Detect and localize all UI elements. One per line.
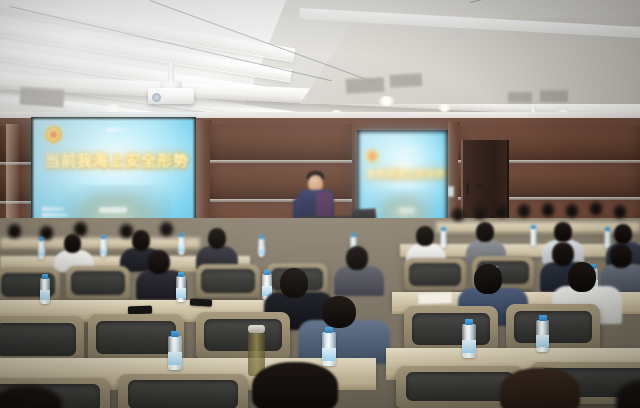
- water-bottle[interactable]: [168, 336, 182, 370]
- attendee-body: [334, 266, 384, 296]
- water-bottle[interactable]: [176, 276, 186, 302]
- water-bottle[interactable]: [100, 238, 107, 257]
- attendee-head: [518, 204, 530, 217]
- bottle-cap: [179, 233, 184, 237]
- hvac-vent: [508, 92, 532, 103]
- water-bottle[interactable]: [322, 332, 336, 366]
- chair[interactable]: [118, 374, 248, 408]
- water-bottle[interactable]: [258, 238, 265, 257]
- attendee-head: [474, 264, 502, 294]
- attendee-head: [614, 224, 632, 244]
- lecture-hall-photo: 当前我海上安全形势 当前我海上安全形势: [0, 0, 640, 408]
- bottle-cap: [42, 274, 48, 279]
- attendee-head: [568, 262, 596, 292]
- attendee-head: [452, 208, 464, 221]
- chair[interactable]: [404, 306, 498, 353]
- attendee-head: [610, 244, 632, 268]
- bottle-label: [258, 247, 265, 254]
- chair[interactable]: [196, 264, 260, 298]
- flask-cap: [248, 325, 265, 333]
- attendee-head: [132, 230, 150, 251]
- door-handle[interactable]: [466, 183, 469, 195]
- water-bottle[interactable]: [40, 278, 50, 304]
- hvac-vent: [19, 86, 64, 107]
- attendee-head: [322, 296, 356, 328]
- attendee-head: [552, 242, 574, 266]
- attendee-head: [474, 206, 486, 219]
- attendee-head: [280, 268, 308, 298]
- water-bottle[interactable]: [178, 236, 185, 255]
- smartphone[interactable]: [190, 298, 212, 306]
- bottle-cap: [178, 272, 184, 277]
- bottle-cap: [539, 315, 547, 321]
- water-bottle[interactable]: [462, 324, 476, 358]
- bottle-label: [176, 288, 186, 298]
- attendee-head: [590, 202, 602, 215]
- attendee-head: [148, 250, 170, 274]
- wall-panel: [210, 124, 352, 160]
- water-bottle[interactable]: [530, 228, 537, 246]
- bottle-cap: [101, 235, 106, 239]
- hvac-vent: [346, 77, 385, 94]
- hvac-vent: [540, 90, 568, 102]
- ceiling-downlight: [378, 96, 395, 106]
- water-bottle[interactable]: [38, 240, 45, 259]
- attendee-head: [476, 222, 494, 242]
- screen-glare: [33, 119, 194, 225]
- attendee-head: [416, 226, 434, 246]
- bottle-cap: [605, 227, 610, 231]
- attendee-head: [120, 224, 133, 238]
- paper-handout[interactable]: [418, 292, 452, 304]
- attendee-head: [252, 362, 338, 408]
- bottle-cap: [171, 331, 179, 337]
- bottle-label: [178, 245, 185, 252]
- bottle-label: [322, 348, 336, 361]
- projector-lens: [152, 93, 161, 102]
- attendee-head: [346, 246, 368, 270]
- main-projection-screen: 当前我海上安全形势: [33, 119, 194, 225]
- attendee-head: [64, 234, 81, 253]
- chair[interactable]: [0, 316, 84, 364]
- attendee-head: [554, 222, 572, 242]
- bottle-cap: [531, 225, 536, 229]
- chair[interactable]: [0, 268, 60, 302]
- bottle-label: [536, 335, 549, 347]
- bottle-label: [40, 290, 50, 300]
- attendee-head: [208, 228, 226, 249]
- bottle-label: [462, 340, 476, 353]
- bottle-cap: [39, 237, 44, 241]
- bottle-cap: [441, 227, 446, 231]
- attendee-head: [496, 205, 507, 217]
- attendee-head: [566, 204, 578, 217]
- hvac-vent: [390, 73, 423, 88]
- bottle-label: [100, 247, 107, 254]
- projector-mount: [168, 62, 174, 84]
- attendee-head: [500, 368, 580, 408]
- ceiling-downlight: [438, 104, 451, 112]
- chair[interactable]: [196, 312, 290, 359]
- attendee-head: [614, 205, 626, 218]
- water-bottle[interactable]: [440, 230, 447, 248]
- chair[interactable]: [404, 258, 466, 291]
- bottle-cap: [325, 327, 333, 333]
- bottle-cap: [259, 235, 264, 239]
- bottle-cap: [465, 319, 473, 325]
- chair[interactable]: [66, 266, 130, 300]
- attendee-head: [8, 224, 21, 238]
- bottle-label: [168, 352, 182, 365]
- bottle-cap: [351, 233, 356, 237]
- attendee-head: [160, 222, 173, 236]
- door-handle[interactable]: [476, 183, 483, 186]
- bottle-label: [38, 249, 45, 256]
- chair[interactable]: [506, 304, 600, 351]
- water-bottle[interactable]: [536, 320, 549, 352]
- bottle-cap: [264, 270, 270, 275]
- attendee-head: [542, 203, 554, 216]
